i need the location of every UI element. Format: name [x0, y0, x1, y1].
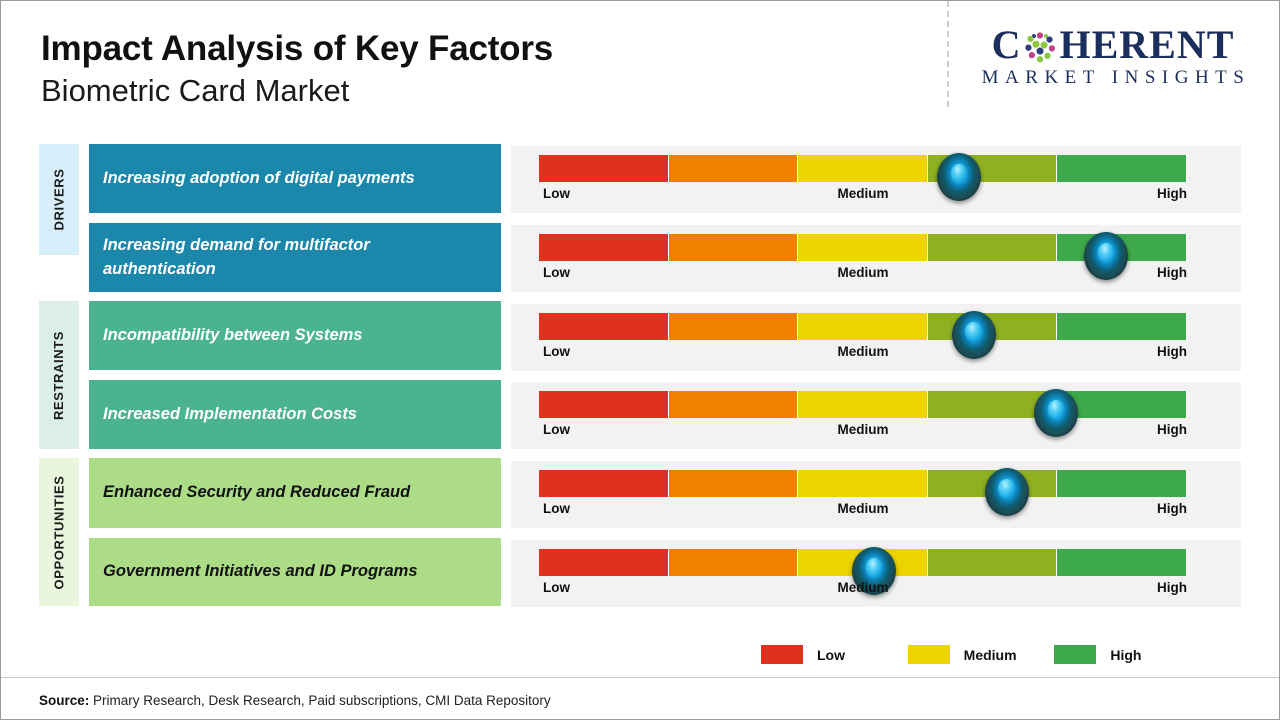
logo-tagline: MARKET INSIGHTS: [963, 67, 1263, 89]
factor-box[interactable]: Increasing adoption of digital payments: [89, 144, 501, 213]
factor-label: Increasing adoption of digital payments: [103, 167, 415, 191]
gauge-segment-5: [1057, 155, 1187, 182]
source-label: Source:: [39, 693, 89, 708]
scale-tick-medium: Medium: [837, 422, 888, 437]
gauge-scale: Low Medium High: [539, 186, 1187, 206]
gauge-segment-3: [798, 313, 928, 340]
gauge-panel: Low Medium High: [511, 382, 1241, 449]
factor-label: Increasing demand for multifactor authen…: [103, 234, 487, 282]
footer-divider: [1, 677, 1279, 678]
gauge-segment-5: [1057, 470, 1187, 497]
factor-label: Government Initiatives and ID Programs: [103, 560, 418, 584]
gauge-panel: Low Medium High: [511, 225, 1241, 292]
gauge-scale: Low Medium High: [539, 422, 1187, 442]
scale-tick-low: Low: [543, 580, 570, 595]
scale-tick-high: High: [1157, 501, 1187, 516]
category-rail-opportunities: OPPORTUNITIES: [39, 458, 79, 606]
gauge-scale: Low Medium High: [539, 265, 1187, 285]
gauge-bar: [539, 155, 1187, 182]
gauge-panel: Low Medium High: [511, 461, 1241, 528]
gauge-segment-2: [669, 313, 799, 340]
logo-divider: [947, 1, 949, 107]
gauge-segment-2: [669, 391, 799, 418]
scale-tick-medium: Medium: [837, 344, 888, 359]
gauge-segment-1: [539, 155, 669, 182]
factor-box[interactable]: Enhanced Security and Reduced Fraud: [89, 458, 501, 528]
page-subtitle: Biometric Card Market: [41, 72, 741, 109]
legend-swatch-medium: [908, 645, 950, 664]
gauge-segment-1: [539, 470, 669, 497]
legend-label-low: Low: [817, 647, 845, 663]
gauge-segment-5: [1057, 313, 1187, 340]
gauge-segment-2: [669, 155, 799, 182]
gauge-bar: [539, 234, 1187, 261]
factor-box[interactable]: Increasing demand for multifactor authen…: [89, 223, 501, 292]
legend-label-high: High: [1110, 647, 1141, 663]
category-label-drivers: DRIVERS: [52, 169, 67, 231]
gauge-segment-2: [669, 549, 799, 576]
gauge-segment-1: [539, 234, 669, 261]
page-title: Impact Analysis of Key Factors: [41, 29, 741, 68]
scale-tick-high: High: [1157, 186, 1187, 201]
factor-box[interactable]: Incompatibility between Systems: [89, 301, 501, 370]
gauge-panel: Low Medium High: [511, 540, 1241, 607]
header-title-block: Impact Analysis of Key Factors Biometric…: [41, 29, 741, 109]
dotted-globe-icon: [1023, 30, 1057, 64]
legend-item-low: Low: [761, 645, 908, 664]
gauge-segment-1: [539, 313, 669, 340]
factor-label: Increased Implementation Costs: [103, 403, 357, 427]
category-rail-drivers: DRIVERS: [39, 144, 79, 255]
gauge-segment-4: [928, 549, 1058, 576]
category-rail-restraints: RESTRAINTS: [39, 301, 79, 449]
legend-swatch-high: [1054, 645, 1096, 664]
logo-wordmark: C HERENT: [963, 25, 1263, 65]
factor-box[interactable]: Government Initiatives and ID Programs: [89, 538, 501, 606]
scale-tick-high: High: [1157, 344, 1187, 359]
scale-tick-low: Low: [543, 265, 570, 280]
scale-tick-medium: Medium: [837, 186, 888, 201]
gauge-segment-3: [798, 391, 928, 418]
gauge-segment-3: [798, 234, 928, 261]
factor-label: Incompatibility between Systems: [103, 324, 363, 348]
source-line: Source: Primary Research, Desk Research,…: [39, 693, 551, 708]
gauge-segment-4: [928, 234, 1058, 261]
gauge-segment-2: [669, 470, 799, 497]
legend-swatch-low: [761, 645, 803, 664]
legend-item-high: High: [1054, 645, 1201, 664]
gauge-segment-3: [798, 155, 928, 182]
gauge-scale: Low Medium High: [539, 501, 1187, 521]
gauge-segment-3: [798, 470, 928, 497]
brand-logo: C HERENT MARKET INSIGHTS: [963, 25, 1263, 89]
scale-tick-low: Low: [543, 344, 570, 359]
factor-label: Enhanced Security and Reduced Fraud: [103, 481, 410, 505]
gauge-bar: [539, 313, 1187, 340]
scale-tick-high: High: [1157, 265, 1187, 280]
scale-tick-high: High: [1157, 580, 1187, 595]
factor-box[interactable]: Increased Implementation Costs: [89, 380, 501, 449]
impact-analysis-slide: Impact Analysis of Key Factors Biometric…: [0, 0, 1280, 720]
logo-brand-left: C: [992, 25, 1022, 65]
scale-tick-medium: Medium: [837, 501, 888, 516]
legend: Low Medium High: [761, 645, 1201, 664]
gauge-scale: Low Medium High: [539, 580, 1187, 600]
scale-tick-high: High: [1157, 422, 1187, 437]
legend-item-medium: Medium: [908, 645, 1055, 664]
source-text: Primary Research, Desk Research, Paid su…: [89, 693, 550, 708]
gauge-segment-1: [539, 391, 669, 418]
gauge-segment-2: [669, 234, 799, 261]
gauge-scale: Low Medium High: [539, 344, 1187, 364]
logo-brand-right: HERENT: [1059, 25, 1234, 65]
gauge-panel: Low Medium High: [511, 304, 1241, 371]
scale-tick-low: Low: [543, 422, 570, 437]
gauge-panel: Low Medium High: [511, 146, 1241, 213]
scale-tick-medium: Medium: [837, 265, 888, 280]
gauge-bar: [539, 549, 1187, 576]
legend-label-medium: Medium: [964, 647, 1017, 663]
gauge-segment-1: [539, 549, 669, 576]
gauge-bar: [539, 470, 1187, 497]
category-label-restraints: RESTRAINTS: [52, 330, 67, 419]
category-label-opportunities: OPPORTUNITIES: [52, 475, 67, 589]
scale-tick-medium: Medium: [837, 580, 888, 595]
scale-tick-low: Low: [543, 501, 570, 516]
gauge-bar: [539, 391, 1187, 418]
scale-tick-low: Low: [543, 186, 570, 201]
gauge-segment-5: [1057, 549, 1187, 576]
